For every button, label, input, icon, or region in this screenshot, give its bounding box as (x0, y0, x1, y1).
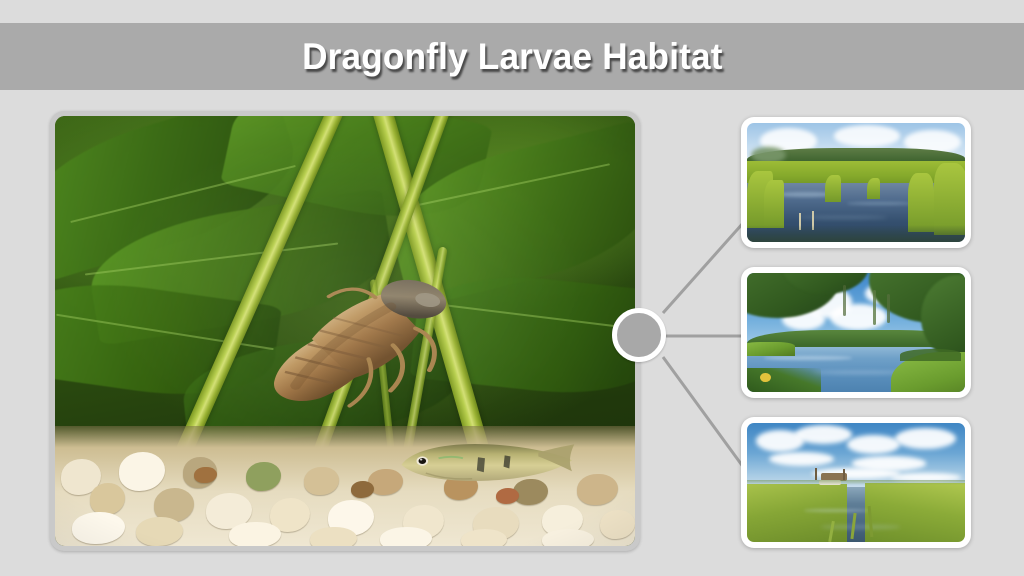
foreground-shadow (747, 225, 965, 242)
thumbnail-image-3 (747, 423, 965, 542)
structure-post (815, 468, 817, 480)
line-to-thumb-3 (663, 357, 744, 468)
dragonfly-larva (264, 228, 461, 434)
left-bank (747, 342, 795, 356)
thumbnail-image-1 (747, 123, 965, 242)
structure-post (843, 469, 845, 480)
moss-strand (873, 290, 876, 326)
water-reflection (764, 356, 851, 360)
cloud (847, 435, 899, 454)
thumbnail-marsh-pond[interactable] (741, 117, 971, 248)
reed-clump (764, 180, 784, 228)
thumbnail-lake-with-trees[interactable] (741, 267, 971, 398)
bank-shrubs (900, 349, 961, 361)
cloud (834, 125, 899, 146)
thumbnail-image-2 (747, 273, 965, 392)
main-photo-dragonfly-larva (55, 116, 635, 546)
fish (391, 434, 577, 490)
foreground-foliage (747, 368, 821, 392)
far-reed-haze (747, 480, 965, 485)
moss-strand (843, 285, 846, 316)
page-title: Dragonfly Larvae Habitat (302, 36, 723, 78)
cloud (830, 304, 887, 330)
connector-hub-node[interactable] (612, 308, 666, 362)
reed-clump (908, 173, 934, 233)
cloud (895, 428, 956, 449)
water-reflection (847, 202, 912, 206)
slide-canvas: Dragonfly Larvae Habitat (0, 0, 1024, 576)
main-photo-frame[interactable] (50, 111, 640, 551)
line-to-thumb-1 (663, 222, 744, 313)
reed-clump (825, 175, 840, 201)
title-banner: Dragonfly Larvae Habitat (0, 23, 1024, 90)
reed-clump (867, 178, 880, 199)
thumbnail-reed-channel[interactable] (741, 417, 971, 548)
cloud (769, 452, 834, 466)
moss-strand (887, 294, 890, 323)
reed-bank-right (865, 483, 965, 543)
reed-clump (934, 163, 965, 234)
